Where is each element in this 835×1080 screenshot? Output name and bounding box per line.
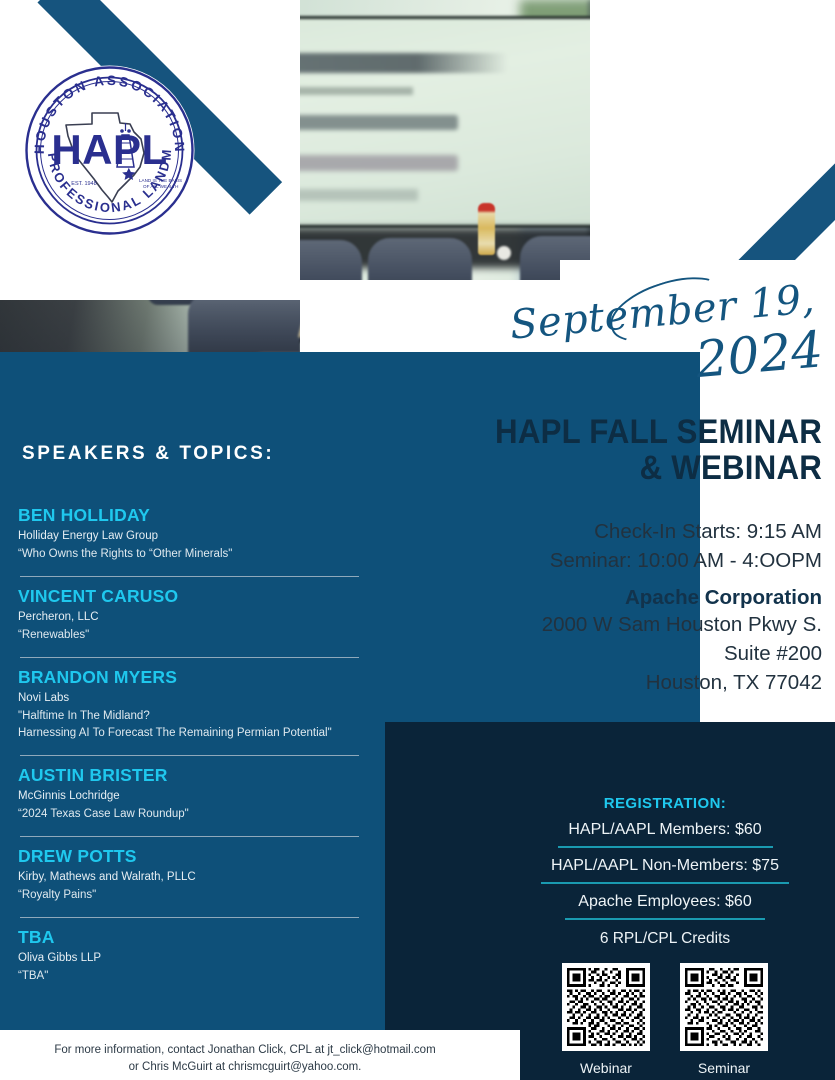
speaker-topic: “2024 Texas Case Law Roundup" — [18, 806, 363, 823]
speakers-list: BEN HOLLIDAY Holliday Energy Law Group “… — [18, 505, 363, 990]
event-title-line2: & WEBINAR — [461, 450, 822, 486]
speaker-name: BEN HOLLIDAY — [18, 505, 363, 527]
qr-code-webinar[interactable] — [562, 963, 650, 1051]
address-line-1: 2000 W Sam Houston Pkwy S. — [400, 610, 822, 639]
event-date: September 19, 2024 — [520, 276, 825, 386]
event-title-line1: HAPL FALL SEMINAR — [461, 414, 822, 450]
speaker-item: VINCENT CARUSO Percheron, LLC “Renewable… — [18, 586, 363, 649]
event-date-line2: 2024 — [693, 320, 825, 389]
speaker-org: Novi Labs — [18, 689, 363, 708]
speakers-heading: SPEAKERS & TOPICS: — [22, 443, 352, 465]
venue-name: Apache Corporation — [430, 584, 822, 613]
speaker-divider — [20, 755, 359, 756]
svg-text:EST. 1948: EST. 1948 — [71, 181, 96, 187]
qr-code-seminar-item[interactable]: Seminar — [680, 963, 768, 1076]
svg-text:OF ALL WEALTH: OF ALL WEALTH — [143, 184, 178, 189]
registration-section: REGISTRATION: HAPL/AAPL Members: $60 HAP… — [505, 795, 825, 948]
speaker-name: AUSTIN BRISTER — [18, 765, 363, 787]
registration-row-nonmembers: HAPL/AAPL Non-Members: $75 — [505, 848, 825, 875]
speaker-topic: “Royalty Pains" — [18, 887, 363, 904]
page-title: HAPL FALL SEMINAR & WEBINAR — [461, 414, 822, 487]
address-line-2: Suite #200 — [400, 639, 822, 668]
speaker-name: VINCENT CARUSO — [18, 586, 363, 608]
speaker-divider — [20, 657, 359, 658]
speaker-topic: "Halftime In The Midland? — [18, 708, 363, 725]
address-line-3: Houston, TX 77042 — [400, 668, 822, 697]
qr-code-group: Webinar — [540, 963, 790, 1076]
svg-text:HAPL: HAPL — [51, 126, 167, 173]
checkin-time: Check-In Starts: 9:15 AM — [430, 517, 822, 546]
footer-line-2: or Chris McGuirt at chrismcguirt@yahoo.c… — [10, 1059, 480, 1076]
speaker-item: BRANDON MYERS Novi Labs "Halftime In The… — [18, 667, 363, 747]
speaker-divider — [20, 836, 359, 837]
speaker-divider — [20, 576, 359, 577]
speaker-org: Holliday Energy Law Group — [18, 527, 363, 546]
registration-credits: 6 RPL/CPL Credits — [505, 920, 825, 948]
speaker-divider — [20, 917, 359, 918]
registration-row-members: HAPL/AAPL Members: $60 — [505, 812, 825, 839]
qr-code-seminar-label: Seminar — [680, 1051, 768, 1076]
speaker-topic: “Renewables" — [18, 627, 363, 644]
qr-code-seminar[interactable] — [680, 963, 768, 1051]
footer-line-1: For more information, contact Jonathan C… — [10, 1042, 480, 1059]
qr-code-webinar-item[interactable]: Webinar — [562, 963, 650, 1076]
speaker-topic: “Who Owns the Rights to “Other Minerals" — [18, 546, 363, 563]
speaker-item: DREW POTTS Kirby, Mathews and Walrath, P… — [18, 846, 363, 909]
seminar-time: Seminar: 10:00 AM - 4:OOPM — [430, 546, 822, 575]
speaker-org: Percheron, LLC — [18, 608, 363, 627]
speaker-org: McGinnis Lochridge — [18, 787, 363, 806]
svg-text:LAND IS THE BASIS: LAND IS THE BASIS — [139, 178, 182, 183]
speaker-name: BRANDON MYERS — [18, 667, 363, 689]
speaker-org: Kirby, Mathews and Walrath, PLLC — [18, 868, 363, 887]
speaker-item: BEN HOLLIDAY Holliday Energy Law Group “… — [18, 505, 363, 568]
hapl-logo: HOUSTON ASSOCIATION OF PROFESSIONAL LAND… — [22, 63, 197, 238]
venue-address: 2000 W Sam Houston Pkwy S. Suite #200 Ho… — [400, 610, 822, 697]
event-times: Check-In Starts: 9:15 AM Seminar: 10:00 … — [430, 517, 822, 575]
speaker-topic-cont: Harnessing AI To Forecast The Remaining … — [18, 725, 363, 742]
speaker-org: Oliva Gibbs LLP — [18, 949, 363, 968]
speaker-name: TBA — [18, 927, 363, 949]
qr-code-webinar-label: Webinar — [562, 1051, 650, 1076]
registration-heading: REGISTRATION: — [505, 795, 825, 812]
speaker-item: AUSTIN BRISTER McGinnis Lochridge “2024 … — [18, 765, 363, 828]
registration-row-apache: Apache Employees: $60 — [505, 884, 825, 911]
speaker-item: TBA Oliva Gibbs LLP “TBA" — [18, 927, 363, 990]
footer-contact: For more information, contact Jonathan C… — [10, 1042, 480, 1077]
speaker-name: DREW POTTS — [18, 846, 363, 868]
flyer-page: HOUSTON ASSOCIATION OF PROFESSIONAL LAND… — [0, 0, 835, 1080]
speaker-topic: “TBA" — [18, 968, 363, 985]
